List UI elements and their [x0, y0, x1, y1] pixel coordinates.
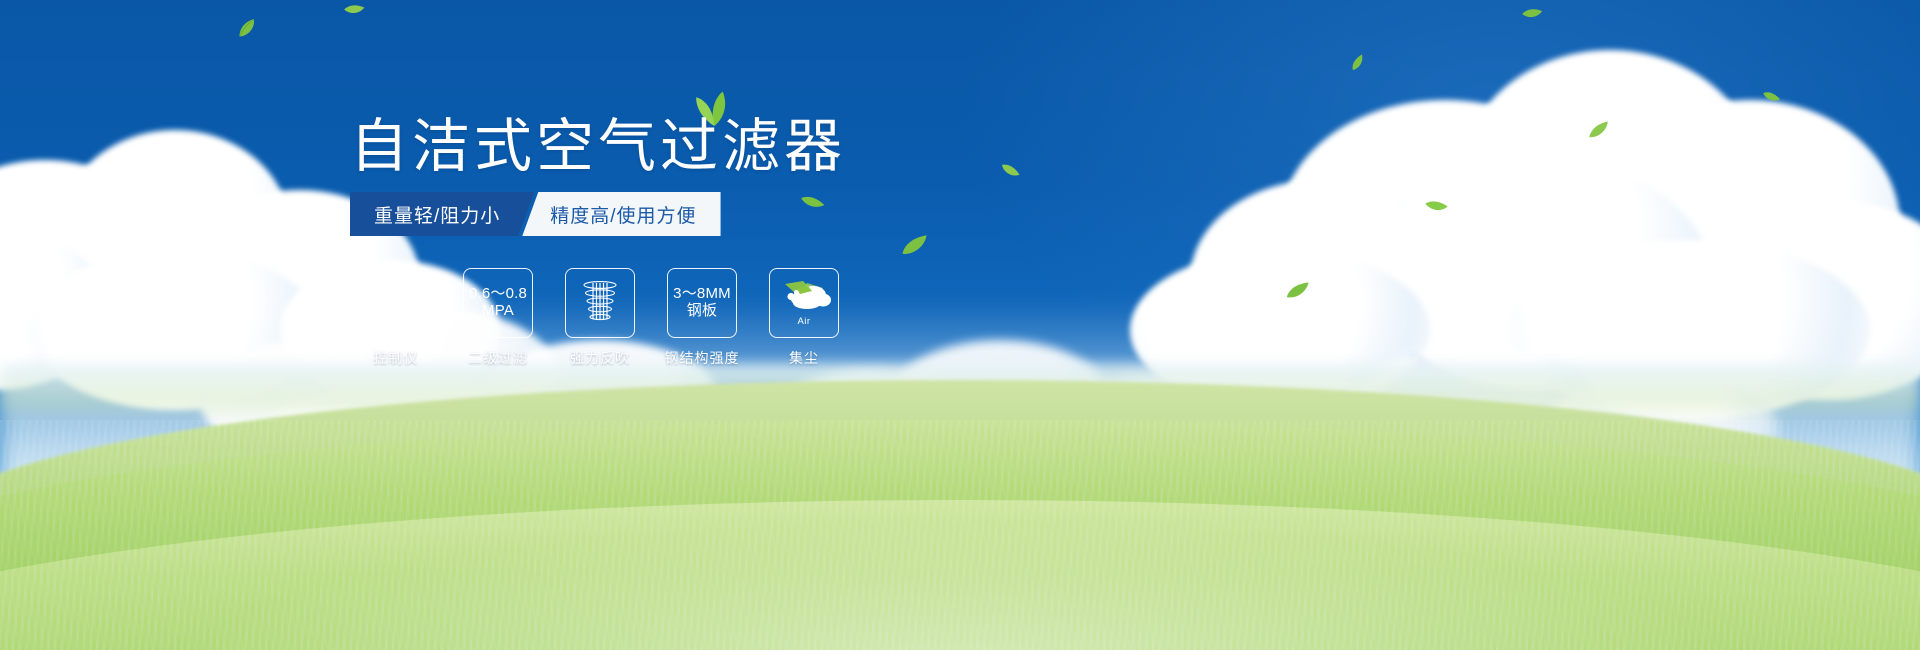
gauge-icon: NO OFF [368, 278, 424, 328]
feature-label: 强力反吹 [570, 348, 630, 368]
badge-lightweight-low-resistance: 重量轻/阻力小 [350, 192, 534, 236]
steel-thickness-line2: 钢板 [687, 303, 717, 320]
badge-precision-easy-use: 精度高/使用方便 [522, 192, 720, 236]
feature-steel-structure: 3～8MM 钢板 钢结构强度 [662, 268, 742, 368]
air-label: Air [797, 316, 810, 327]
svg-text:OFF: OFF [405, 320, 417, 326]
feature-dust-collection: Air 集尘 [764, 268, 844, 368]
steel-thickness-line1: 3～8MM [673, 286, 731, 303]
product-banner: 自洁式空气过滤器 重量轻/阻力小 精度高/使用方便 [0, 0, 1920, 650]
feature-label: 集尘 [789, 348, 819, 368]
feature-icon-box: Air [769, 268, 839, 338]
pressure-value-line2: MPA [482, 303, 514, 320]
feature-icon-box [565, 268, 635, 338]
page-title: 自洁式空气过滤器 [350, 118, 846, 176]
svg-text:NO: NO [370, 300, 380, 307]
feature-two-stage-filter: 0.6～0.8 MPA 二级过滤 [458, 268, 538, 368]
feature-reverse-blow: 强力反吹 [560, 268, 640, 368]
pressure-value-line1: 0.6～0.8 [469, 286, 527, 303]
feature-icon-box: 0.6～0.8 MPA [463, 268, 533, 338]
feature-controller: NO OFF 控制仪 [356, 268, 436, 368]
feature-icon-box: NO OFF [361, 268, 431, 338]
banner-content: 自洁式空气过滤器 重量轻/阻力小 精度高/使用方便 [0, 0, 1920, 650]
cloud-air-icon [777, 280, 831, 314]
feature-label: 二级过滤 [468, 348, 528, 368]
coil-blow-icon [574, 278, 626, 328]
feature-label: 钢结构强度 [665, 348, 740, 368]
feature-icon-box: 3～8MM 钢板 [667, 268, 737, 338]
feature-label: 控制仪 [374, 348, 419, 368]
feature-row: NO OFF 控制仪 0.6～0.8 MPA 二级过滤 [356, 268, 844, 368]
badge-row: 重量轻/阻力小 精度高/使用方便 [350, 192, 721, 236]
